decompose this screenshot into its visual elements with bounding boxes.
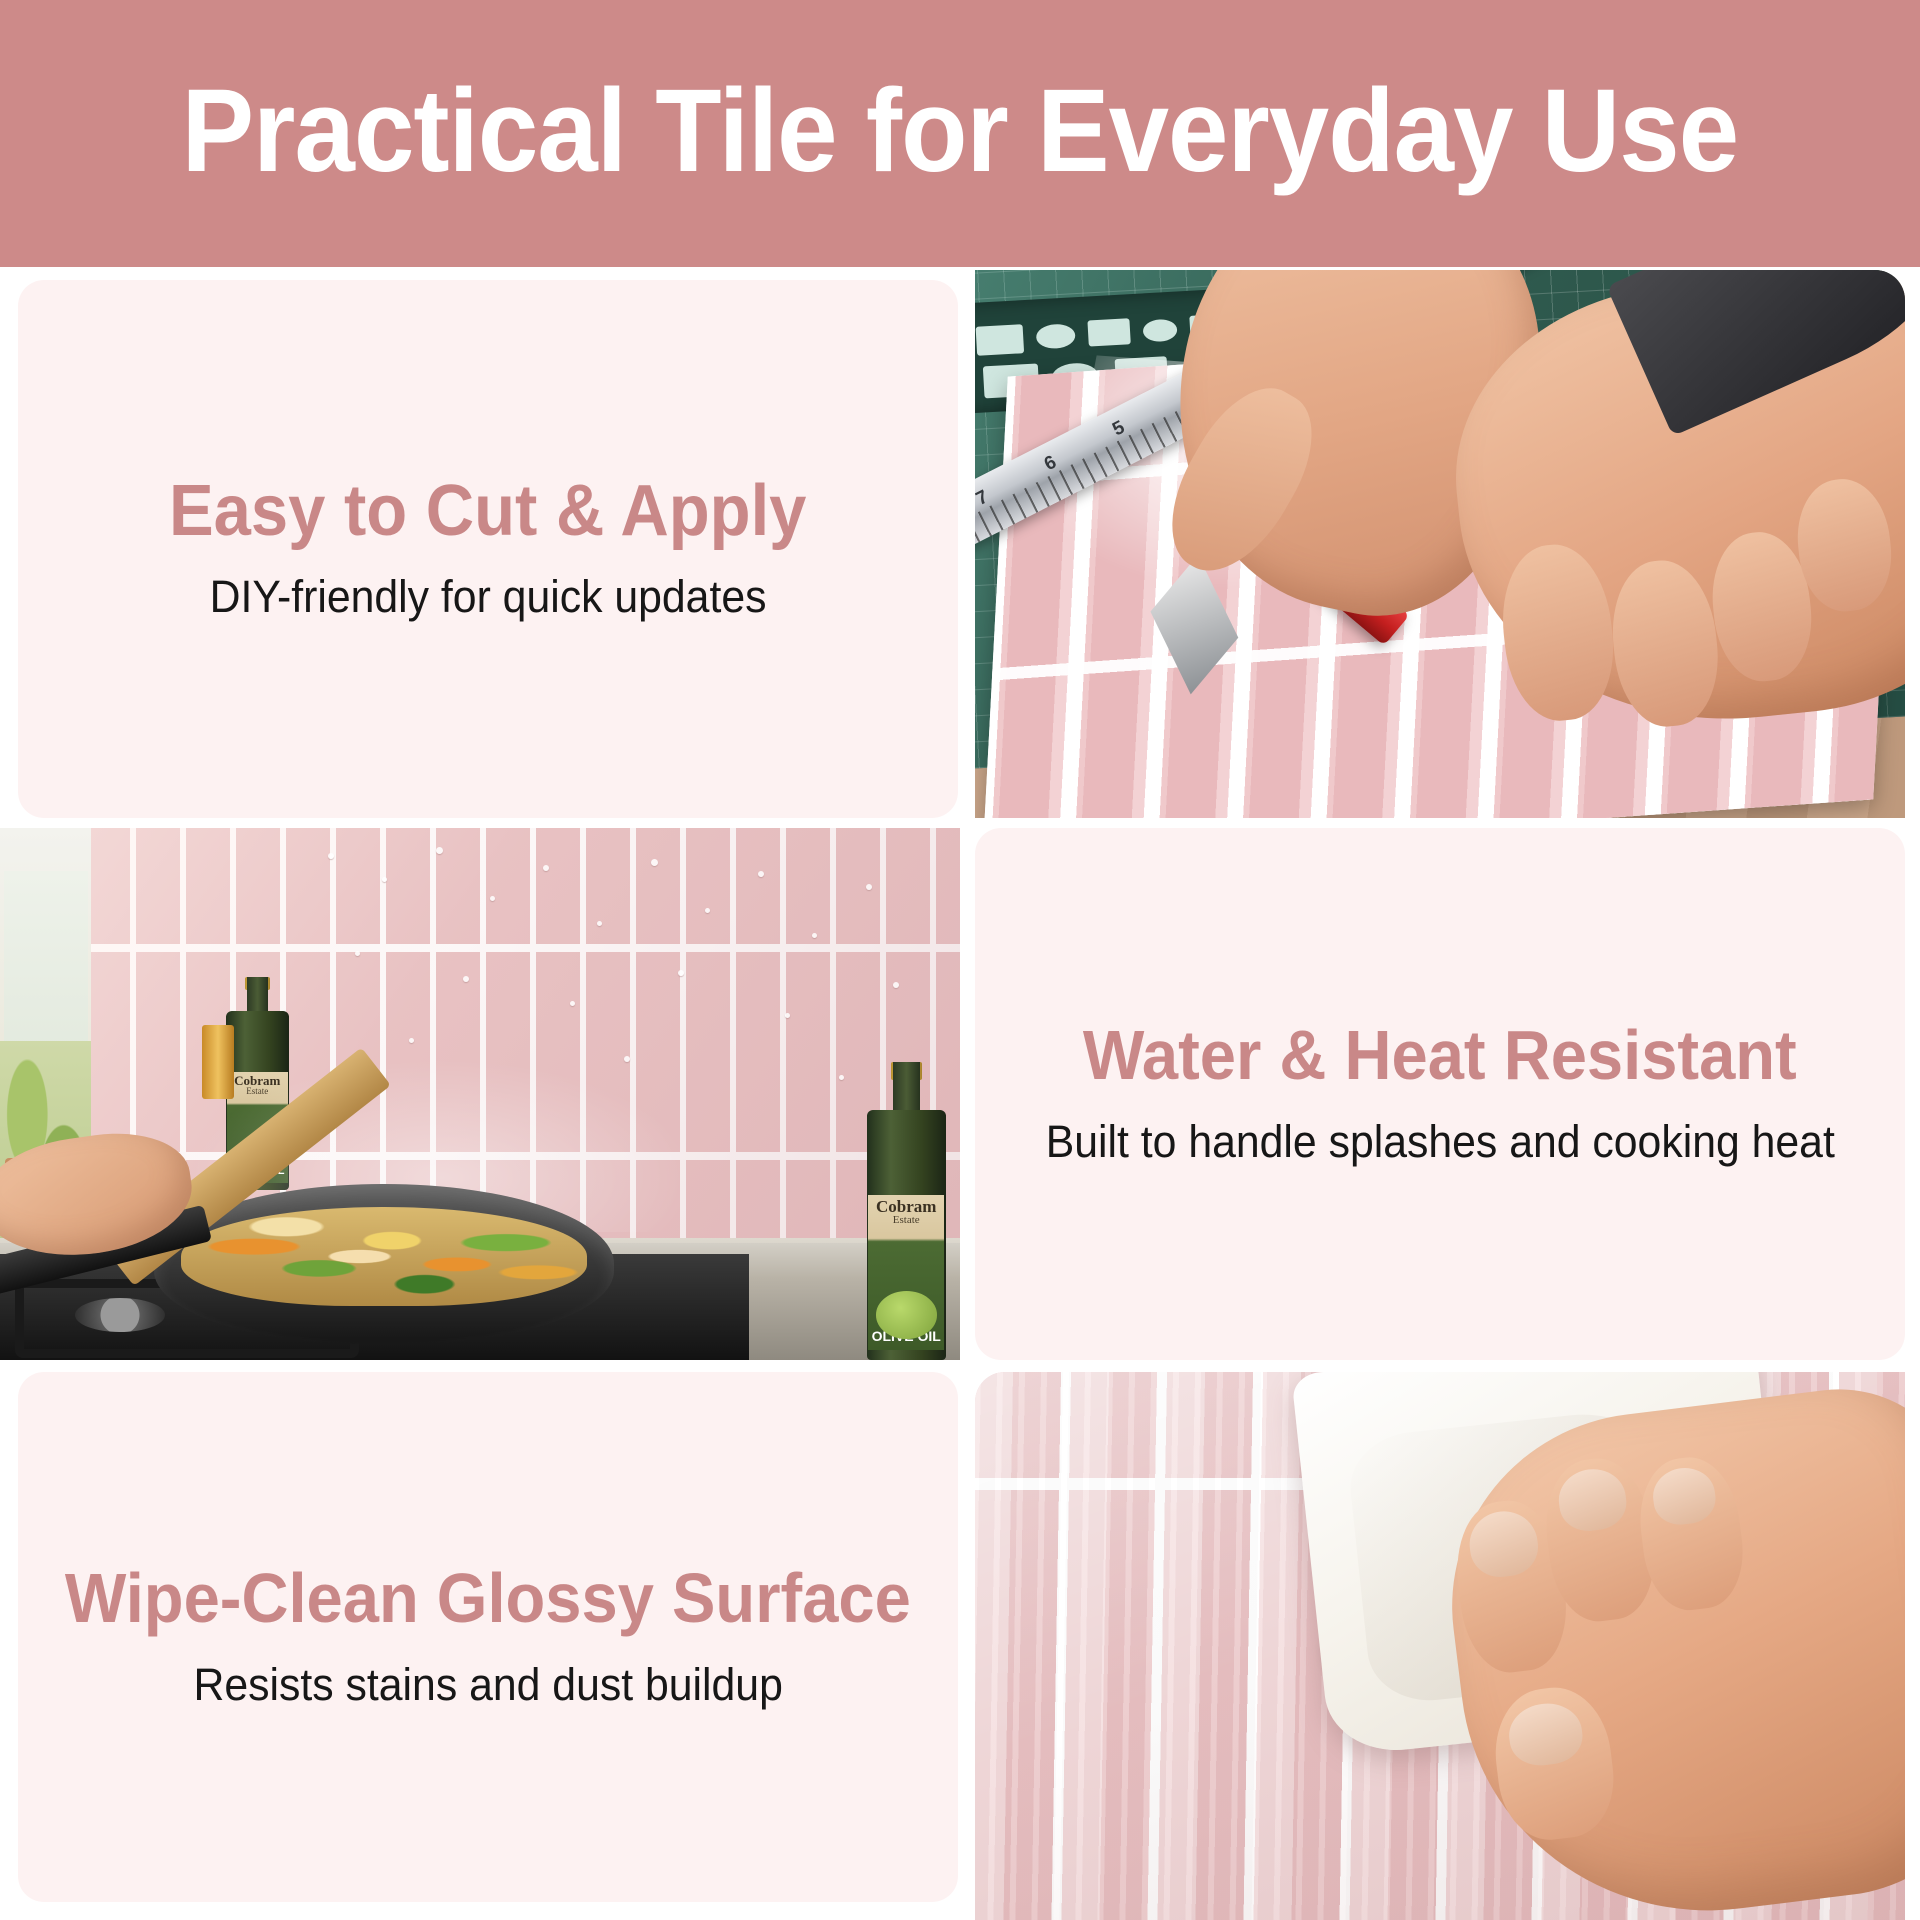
green-jar-lid (876, 1291, 937, 1339)
feature-title-easy-to-cut: Easy to Cut & Apply (169, 475, 806, 548)
feature-photo-kitchen-backsplash: Cobram Estate EXTRA VIRGIN OLIVE OIL (0, 828, 960, 1360)
bottle-sub-brand: Estate (893, 1215, 920, 1226)
feature-photo-cutting-tile: 765432 (975, 270, 1905, 818)
infographic-page: Practical Tile for Everyday Use Easy to … (0, 0, 1920, 1920)
feature-subtitle-wipe-clean-glossy: Resists stains and dust buildup (193, 1659, 782, 1711)
gas-burner (75, 1298, 165, 1332)
feature-subtitle-easy-to-cut: DIY-friendly for quick updates (210, 571, 767, 623)
feature-card-wipe-clean-glossy: Wipe-Clean Glossy Surface Resists stains… (18, 1372, 958, 1902)
bottle-brand: Cobram (876, 1198, 936, 1215)
bottle-neck (247, 977, 269, 1013)
feature-title-water-heat-resistant: Water & Heat Resistant (1083, 1020, 1797, 1091)
bottle-neck (893, 1062, 920, 1113)
feature-card-easy-to-cut: Easy to Cut & Apply DIY-friendly for qui… (18, 280, 958, 818)
feature-title-wipe-clean-glossy: Wipe-Clean Glossy Surface (65, 1563, 911, 1634)
header-banner: Practical Tile for Everyday Use (0, 0, 1920, 267)
page-title: Practical Tile for Everyday Use (182, 72, 1739, 196)
feature-photo-wiping-tile (975, 1372, 1905, 1920)
stir-fry-vegetables (181, 1207, 587, 1306)
feature-subtitle-water-heat-resistant: Built to handle splashes and cooking hea… (1045, 1116, 1834, 1168)
feature-card-water-heat-resistant: Water & Heat Resistant Built to handle s… (975, 828, 1905, 1360)
